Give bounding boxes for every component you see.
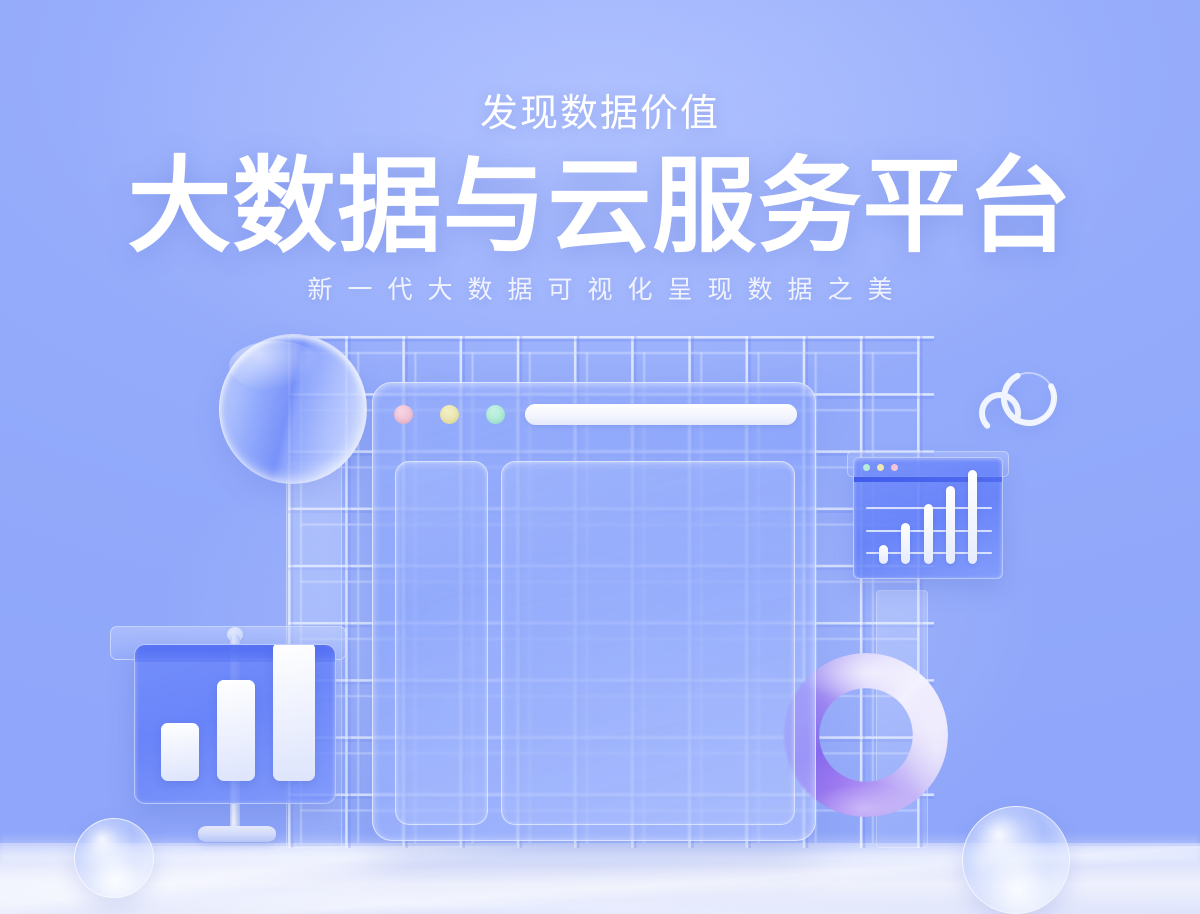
page-title: 大数据与云服务平台 [0,155,1200,259]
mini-bar-3 [924,504,933,564]
eyebrow-text: 发现数据价值 [0,95,1200,133]
mini-bar-5 [968,470,977,564]
glass-disc-decoration [219,334,367,484]
mini-dot-pink[interactable] [891,464,898,471]
window-titlebar [373,383,815,445]
cloud-icon [972,366,1068,438]
sidebar-panel[interactable] [395,461,488,825]
mini-window-titlebar [854,458,1002,477]
glass-sphere-small [74,818,154,898]
card-bar-1 [161,723,199,781]
maximize-dot[interactable] [486,405,505,424]
mini-bar-2 [901,523,910,564]
mini-bar-4 [946,486,955,564]
mini-chart-window[interactable] [853,457,1003,579]
card-bar-2 [217,680,255,781]
subtitle-text: 新一代大数据可视化呈现数据之美 [0,278,1200,303]
card-bar-3 [273,644,315,781]
mini-dot-green[interactable] [863,464,870,471]
mini-window-accent-bar [854,477,1002,482]
minimize-dot[interactable] [440,405,459,424]
close-dot[interactable] [394,405,413,424]
hero-banner-stage: 发现数据价值 大数据与云服务平台 新一代大数据可视化呈现数据之美 [0,0,1200,914]
bar-chart-card-group [132,636,350,870]
mini-dot-yellow[interactable] [877,464,884,471]
hero-text-block: 发现数据价值 大数据与云服务平台 新一代大数据可视化呈现数据之美 [0,0,1200,303]
main-browser-window[interactable] [372,382,816,841]
mini-bar-1 [879,545,888,564]
glass-sphere-large [962,806,1070,914]
content-panel[interactable] [501,461,795,825]
bar-chart-card[interactable] [134,644,336,804]
address-bar[interactable] [525,404,797,425]
stand-base [198,826,276,842]
